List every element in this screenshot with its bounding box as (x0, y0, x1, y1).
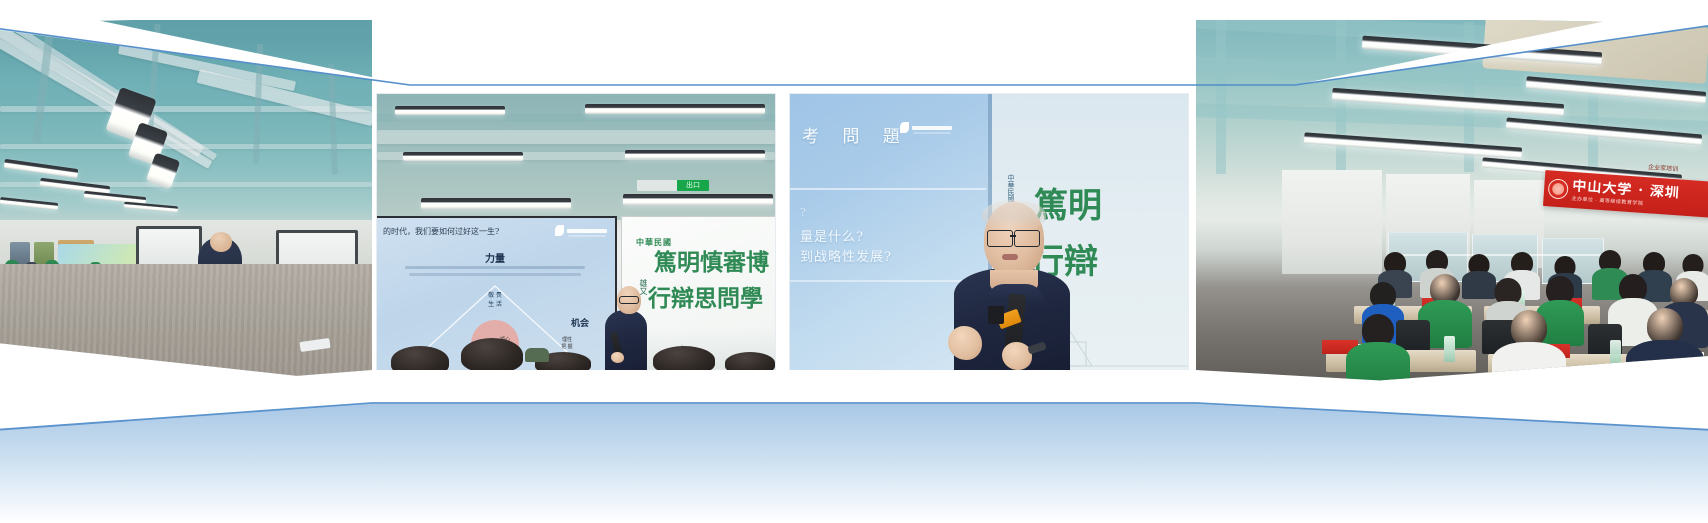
lecture-slide-photo: 出口 的时代，我们要如何过好这一生? 力量 (377, 94, 775, 370)
calligraphy-line-1: 篤明慎審博 (654, 243, 769, 277)
slide-subheading-text: 机会 (571, 316, 589, 329)
classroom-wide-photo (0, 14, 372, 384)
gallery-photo-left[interactable] (0, 14, 372, 384)
slide-title-text: 考 問 題 (802, 122, 909, 147)
speaker-closeup-photo: 考 問 題 ? 量是什么? 到战略性发展? 中華民國十五年十一月 篤明 行辯 雄… (790, 94, 1188, 370)
photo-right-content: 中山大学 · 深圳 主办单位 · 高等继续教育学院 企业家培训 (1196, 14, 1708, 394)
university-banner: 中山大学 · 深圳 主办单位 · 高等继续教育学院 (1543, 170, 1708, 218)
corp-mark-icon (900, 122, 909, 133)
photo-mid-left-content: 出口 的时代，我们要如何过好这一生? 力量 (377, 94, 775, 370)
corp-mark-icon (555, 225, 564, 236)
corp-wordmark (912, 126, 952, 130)
exit-sign-label: 出口 (686, 182, 700, 189)
photo-mid-right-content: 考 問 題 ? 量是什么? 到战略性发展? 中華民國十五年十一月 篤明 行辯 雄… (790, 94, 1188, 370)
slide-bullet-1: 量是什么? (800, 226, 864, 245)
gallery-photo-mid-left[interactable]: 出口 的时代，我们要如何过好这一生? 力量 (377, 94, 775, 370)
slide-bullet-2: 到战略性发展? (800, 246, 892, 265)
exit-sign-icon: 出口 (677, 180, 709, 191)
photo-left-content (0, 14, 372, 384)
corp-wordmark (567, 229, 607, 233)
slide-heading-text: 力量 (377, 250, 615, 265)
calligraphy-line-2: 行辯思問學 (648, 279, 763, 313)
gallery-photo-mid-right[interactable]: 考 問 題 ? 量是什么? 到战略性发展? 中華民國十五年十一月 篤明 行辯 雄… (790, 94, 1188, 370)
glasses-icon (987, 230, 1013, 247)
speaker-hand-left (948, 326, 982, 360)
audience-photo: 中山大学 · 深圳 主办单位 · 高等继续教育学院 企业家培训 (1196, 14, 1708, 394)
gallery-photo-right[interactable]: 中山大学 · 深圳 主办单位 · 高等继续教育学院 企业家培训 (1196, 14, 1708, 394)
slide-corp-logo (900, 122, 952, 133)
photo-gallery-stage: 出口 的时代，我们要如何过好这一生? 力量 (0, 0, 1708, 523)
university-seal-icon (1548, 178, 1569, 199)
